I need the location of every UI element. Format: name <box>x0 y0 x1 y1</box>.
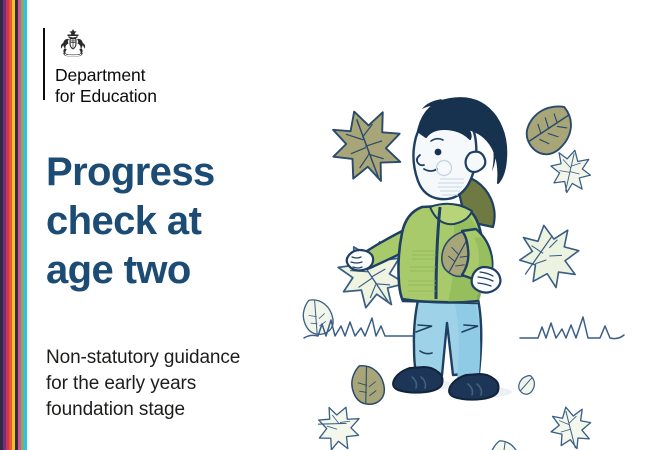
left-boot <box>393 367 442 393</box>
child-in-autumn-leaves-illustration <box>290 55 652 450</box>
right-boot <box>449 374 498 400</box>
leaf-far-left <box>296 294 338 340</box>
leaf-bottom-centre <box>486 437 523 450</box>
falling-maple-leaf-top-left <box>322 100 412 192</box>
leaf-beside-hand <box>515 221 583 292</box>
logo-vertical-rule <box>43 28 45 100</box>
royal-coat-of-arms-icon <box>55 28 91 59</box>
leaf-on-ground-left <box>345 360 390 410</box>
title-line-1: Progress <box>46 148 306 197</box>
right-hand <box>472 267 501 293</box>
logo-line-for-education: for Education <box>55 86 157 107</box>
leaf-bottom-right <box>547 403 596 450</box>
gov-uk-colour-bar <box>0 0 27 450</box>
logo-line-department: Department <box>55 65 157 86</box>
eye <box>435 149 442 156</box>
logo-text-wrap: Department for Education <box>55 28 157 107</box>
subtitle-line-1: Non-statutory guidance <box>46 345 326 371</box>
title-line-3: age two <box>46 246 306 295</box>
document-cover-page: Department for Education Progress check … <box>0 0 652 450</box>
leaf-bottom-left <box>310 400 366 450</box>
subtitle-line-2: for the early years <box>46 371 326 397</box>
page-title: Progress check at age two <box>46 148 306 295</box>
department-for-education-logo: Department for Education <box>43 28 157 107</box>
page-subtitle: Non-statutory guidance for the early yea… <box>46 345 326 423</box>
subtitle-line-3: foundation stage <box>46 397 326 423</box>
ear <box>466 152 486 172</box>
falling-oval-leaf-top-right <box>519 96 581 162</box>
leaf-ground-right <box>517 373 537 396</box>
title-line-2: check at <box>46 197 306 246</box>
colour-stripe-9 <box>24 0 27 450</box>
